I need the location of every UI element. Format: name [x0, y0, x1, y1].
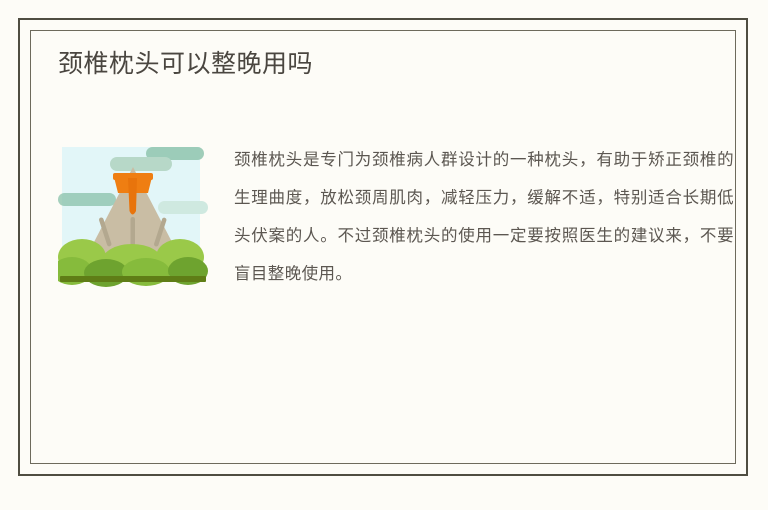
page-title: 颈椎枕头可以整晚用吗 [58, 48, 718, 81]
cloud-icon [110, 157, 172, 171]
volcano-illustration [58, 145, 208, 288]
cloud-icon [58, 193, 116, 206]
article-paragraph: 颈椎枕头是专门为颈椎病人群设计的一种枕头，有助于矫正颈椎的生理曲度，放松颈周肌肉… [234, 141, 734, 293]
article-page: 颈椎枕头可以整晚用吗 [0, 0, 768, 510]
article-content: 颈椎枕头可以整晚用吗 [58, 48, 718, 81]
cloud-icon [158, 201, 208, 214]
ground-bar [60, 276, 206, 282]
bush-shape [84, 259, 128, 287]
